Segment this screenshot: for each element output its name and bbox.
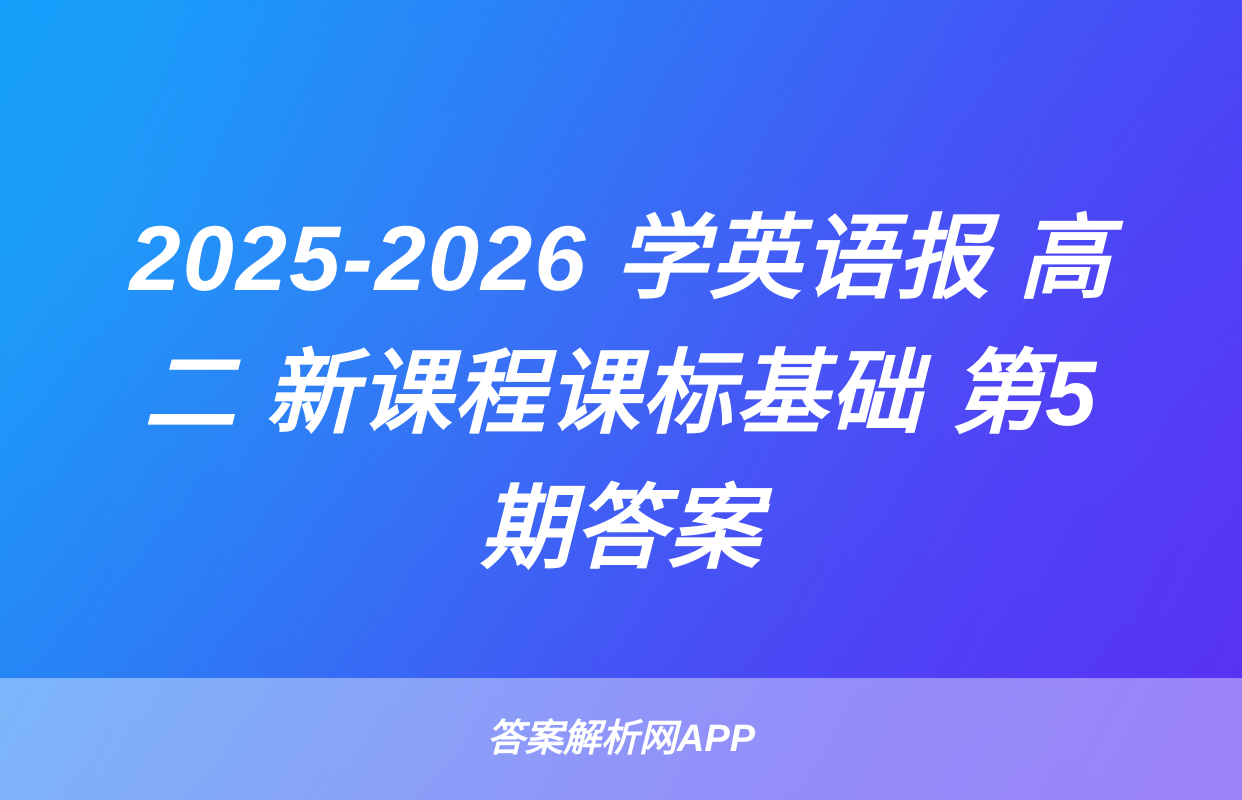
page-title: 2025-2026 学英语报 高 二 新课程课标基础 第5 期答案 [0,192,1242,597]
footer-brand-band: 答案解析网APP [0,678,1242,800]
cover-card: 2025-2026 学英语报 高 二 新课程课标基础 第5 期答案 答案解析网A… [0,0,1242,800]
title-line-2: 二 新课程课标基础 第5 [60,327,1182,462]
title-line-3: 期答案 [60,462,1182,597]
title-line-1: 2025-2026 学英语报 高 [60,192,1182,327]
app-brand-label: 答案解析网APP [487,720,755,758]
